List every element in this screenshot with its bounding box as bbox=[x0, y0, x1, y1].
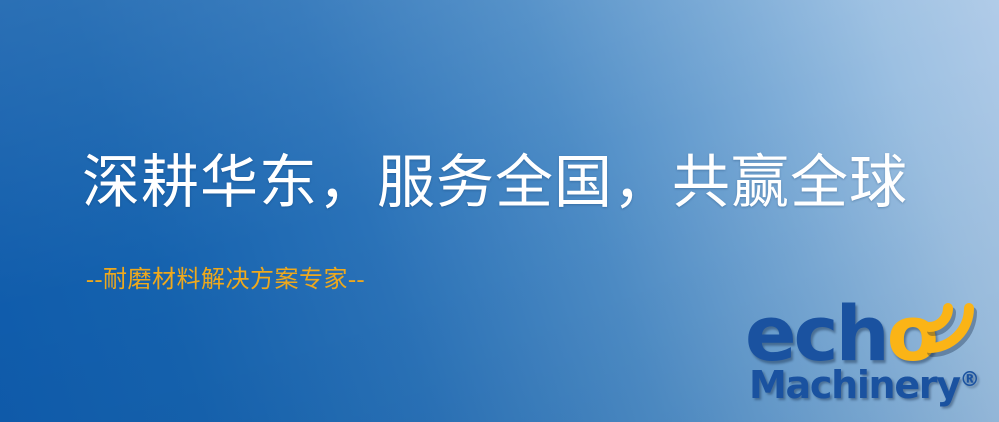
page-title: 深耕华东，服务全国，共赢全球 bbox=[82, 152, 908, 215]
company-logo[interactable]: echo Machinery® bbox=[745, 296, 995, 418]
hero-banner: 深耕华东，服务全国，共赢全球 --耐磨材料解决方案专家-- echo Machi… bbox=[0, 0, 999, 422]
registered-trademark-icon: ® bbox=[960, 367, 980, 391]
logo-subtext: Machinery® bbox=[749, 366, 980, 404]
logo-subtext-label: Machinery bbox=[749, 363, 960, 407]
signal-arcs-icon bbox=[923, 294, 993, 356]
page-subtitle: --耐磨材料解决方案专家-- bbox=[86, 266, 365, 295]
logo-wordmark: echo bbox=[745, 296, 936, 372]
